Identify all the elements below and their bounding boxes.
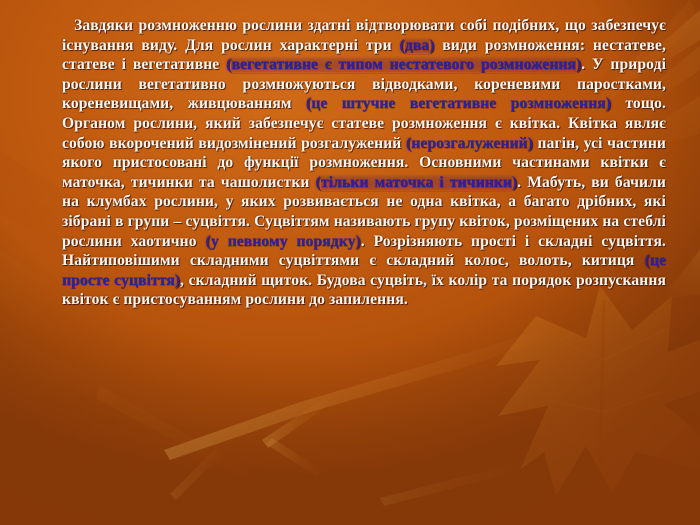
slide-title: Розмноження рослин	[0, 0, 1, 1]
highlighted-term: нерозгалужений	[411, 135, 527, 152]
presentation-slide: Завдяки розмноженню рослини здатні відтв…	[0, 0, 700, 525]
paren-open: (	[399, 37, 404, 54]
slide-paragraph: Завдяки розмноженню рослини здатні відтв…	[62, 16, 666, 310]
highlighted-term: у певному порядку	[211, 233, 356, 250]
slide-body-text: Завдяки розмноженню рослини здатні відтв…	[62, 16, 666, 310]
highlighted-term: це штучне вегетативне розмноження	[311, 95, 605, 112]
marked-term: два	[405, 37, 429, 54]
marked-term: вегетативне є типом нестатевого розмноже…	[231, 56, 575, 73]
marked-term: тільки маточка і тичинки	[321, 174, 512, 191]
